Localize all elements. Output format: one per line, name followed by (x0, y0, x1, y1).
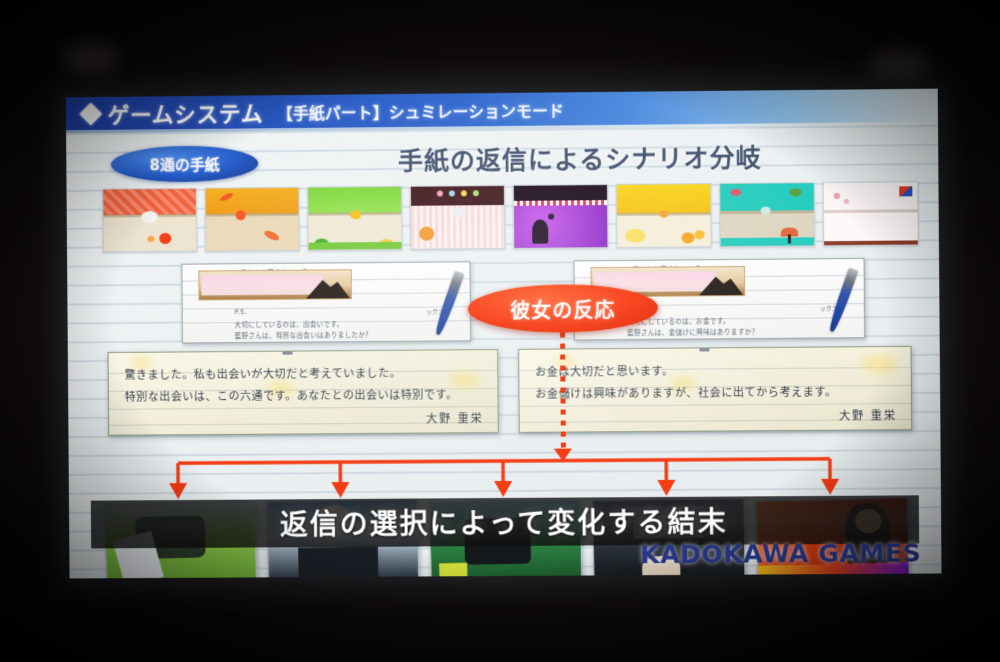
ceiling-light-left (62, 42, 120, 72)
letter-thumb-6 (616, 183, 712, 248)
branch-arrowhead-3-icon (494, 481, 512, 497)
answer-right-line-2: お金儲けは興味がありますが、社会に出てから考えます。 (535, 384, 836, 402)
answer-box-right: お金は大切だと思います。 お金儲けは興味がありますが、社会に出てから考えます。 … (518, 346, 912, 433)
projected-slide: ゲームシステム 【手紙パート】シュミレーションモード 8通の手紙 手紙の返信によ… (66, 89, 942, 579)
slide-subtitle: 【手紙パート】シュミレーションモード (277, 97, 564, 124)
sample-letter-left-photo (198, 269, 352, 300)
letter-thumb-7 (719, 182, 815, 247)
letter-thumbnail-strip (102, 181, 908, 254)
answer-right-line-1: お金は大切だと思います。 (535, 363, 673, 380)
answer-left-line-1: 驚きました。私も出会いが大切だと考えていました。 (125, 365, 402, 383)
reaction-callout-label: 彼女の反応 (510, 294, 615, 324)
ceiling-light-right (868, 48, 930, 78)
sample-letter-left-body-1: 大切にしているのは、出会いです。 (235, 318, 344, 329)
sample-letter-right-body-2: 藍野さんは、金儲けに興味はありますか？ (627, 326, 759, 337)
sample-letter-left: 僕たちは恵まれている。 P.S. 大切にしているのは、出会いです。 藍野さんは、… (181, 261, 471, 343)
letter-thumb-3 (307, 186, 402, 251)
kadokawa-games-logo: KADOKAWA GAMES (640, 538, 921, 569)
pen-icon (433, 271, 464, 337)
letter-thumb-4 (410, 185, 505, 250)
answer-box-left: 驚きました。私も出会いが大切だと考えていました。 特別な出会いは、この六通です。… (108, 349, 499, 436)
letter-thumb-5 (513, 184, 609, 249)
letter-thumb-1 (102, 188, 197, 253)
branch-arrowhead-2-icon (331, 482, 349, 498)
ending-banner-label: 返信の選択によって変化する結末 (280, 501, 728, 544)
answer-clip-icon (699, 346, 709, 352)
letter-thumb-8 (823, 181, 919, 246)
dotted-connector-line (560, 333, 566, 453)
sample-letter-left-ps-label: P.S. (234, 308, 247, 316)
branch-arrowhead-4-icon (657, 480, 675, 496)
answer-left-signature: 大野 重栄 (426, 410, 484, 426)
branch-arrowhead-5-icon (821, 479, 839, 495)
section-heading: 手紙の返信によるシナリオ分岐 (270, 137, 891, 179)
slide-title: ゲームシステム (108, 96, 264, 129)
sample-letter-left-body-2: 藍野さんは、特別な出会いはありましたか？ (235, 329, 373, 340)
answer-left-line-2: 特別な出会いは、この六通です。あなたとの出会いは特別です。 (125, 386, 458, 404)
letter-thumb-2 (205, 187, 300, 252)
pen-icon (827, 267, 859, 333)
answer-clip-icon (283, 349, 293, 355)
letter-count-badge-label: 8通の手紙 (149, 153, 219, 175)
diamond-bullet-icon (80, 102, 102, 125)
stamp-icon (899, 186, 912, 196)
answer-right-signature: 大野 重栄 (839, 407, 897, 423)
projection-room: ゲームシステム 【手紙パート】シュミレーションモード 8通の手紙 手紙の返信によ… (0, 0, 1000, 662)
dotted-connector-arrowhead-icon (554, 449, 572, 462)
branch-arrowhead-1-icon (169, 483, 187, 499)
